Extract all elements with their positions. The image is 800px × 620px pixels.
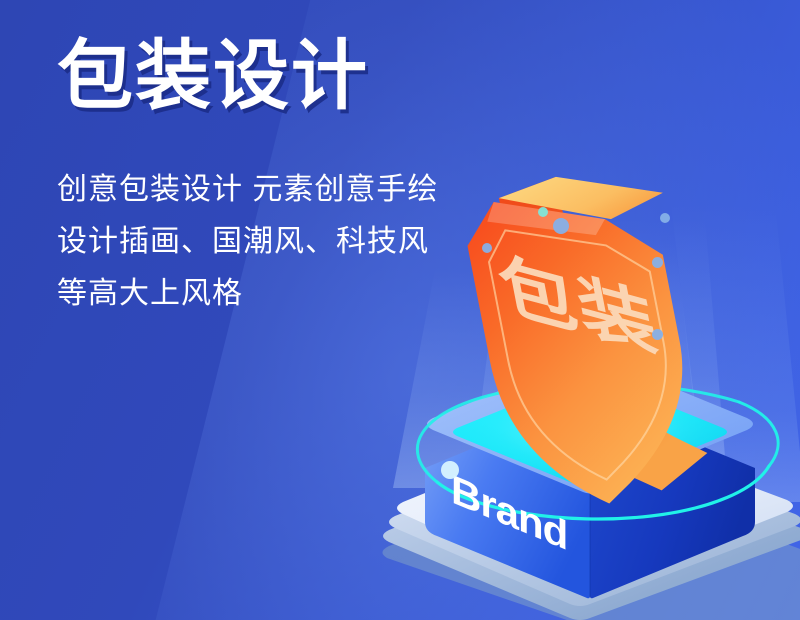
decorative-dot xyxy=(660,213,670,223)
decorative-dot xyxy=(441,461,459,479)
decorative-dot xyxy=(553,218,569,234)
hero-illustration: 包装 Brand xyxy=(375,150,800,620)
decorative-dot xyxy=(538,207,548,217)
decorative-dot xyxy=(652,257,663,268)
decorative-dots xyxy=(375,150,800,620)
page-title: 包装设计 xyxy=(57,38,527,116)
packaging-design-banner: 包装设计 创意包装设计 元素创意手绘 设计插画、国潮风、科技风 等高大上风格 xyxy=(0,0,800,620)
decorative-dot xyxy=(482,243,492,253)
decorative-dot xyxy=(652,329,663,340)
